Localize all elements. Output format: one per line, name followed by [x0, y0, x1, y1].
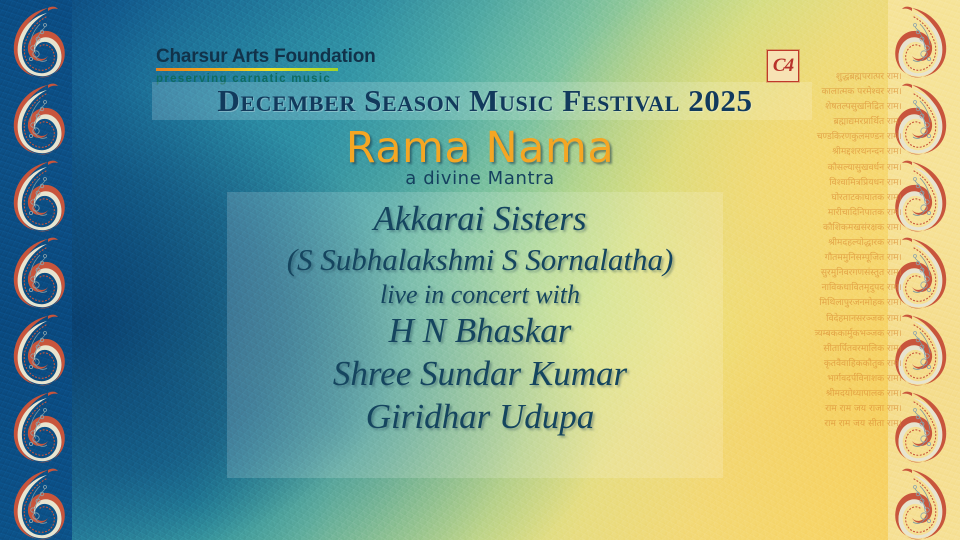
artist-line: (S Subhalakshmi S Sornalatha) — [150, 241, 810, 279]
paisley-motif-icon — [892, 4, 956, 80]
foundation-name: Charsur Arts Foundation — [156, 47, 376, 66]
paisley-motif-icon — [4, 312, 68, 388]
artist-line: Akkarai Sisters — [150, 198, 810, 241]
paisley-motif-icon — [4, 4, 68, 80]
artist-line: Shree Sundar Kumar — [150, 353, 810, 396]
theme-subtitle: a divine Mantra — [0, 168, 960, 189]
paisley-motif — [4, 235, 68, 311]
charsur-monogram-icon: C4 — [767, 50, 799, 82]
paisley-motif-icon — [4, 389, 68, 465]
artist-lineup: Akkarai Sisters(S Subhalakshmi S Sornala… — [150, 198, 810, 438]
artist-line: Giridhar Udupa — [150, 396, 810, 439]
paisley-motif — [4, 312, 68, 388]
theme-title: Rama Nama — [0, 123, 960, 173]
monogram-glyph: C4 — [768, 51, 798, 81]
paisley-motif-icon — [4, 235, 68, 311]
paisley-motif — [892, 466, 956, 540]
foundation-logo: Charsur Arts Foundation preserving carna… — [156, 47, 376, 85]
poster-canvas: शुद्धब्रह्मपरात्पर राम।कालात्मक परमेश्वर… — [0, 0, 960, 540]
artist-line: H N Bhaskar — [150, 310, 810, 353]
paisley-motif — [4, 389, 68, 465]
left-paisley-border — [0, 0, 72, 540]
logo-gradient-rule — [156, 68, 338, 71]
artist-line: live in concert with — [150, 279, 810, 311]
paisley-motif — [892, 4, 956, 80]
festival-title: December Season Music Festival 2025 — [160, 83, 810, 119]
paisley-motif-icon — [892, 466, 956, 540]
paisley-motif-icon — [4, 466, 68, 540]
paisley-motif — [4, 4, 68, 80]
paisley-motif — [4, 466, 68, 540]
